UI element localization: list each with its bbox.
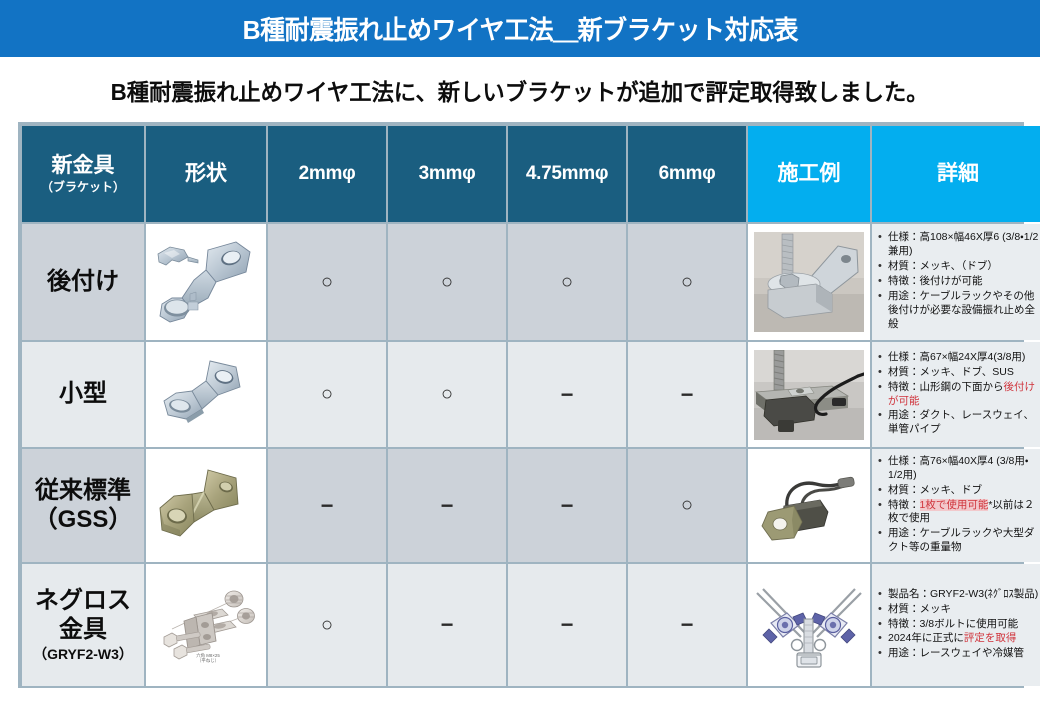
page-title: B種耐震振れ止めワイヤ工法＿新ブラケット対応表 — [242, 10, 797, 47]
row-shape-cell — [146, 224, 266, 340]
header-size-3mm: 3mmφ — [388, 126, 506, 222]
mark-symbol: ○ — [321, 383, 333, 405]
table-row: 小型 — [22, 342, 1040, 447]
row-shape-cell — [146, 342, 266, 447]
mark-symbol: ○ — [561, 271, 573, 293]
row-name-label: 従来標準 — [22, 477, 144, 506]
mark-symbol: − — [681, 382, 694, 407]
row-mark-cell-3mm: − — [388, 564, 506, 686]
install-diagram-v-brace-clamp — [753, 575, 865, 675]
row-mark-cell-3mm: ○ — [388, 342, 506, 447]
mark-symbol: − — [441, 493, 454, 518]
mark-symbol: ○ — [441, 383, 453, 405]
bracket-brass-l-angle-icon — [150, 460, 262, 552]
header-new-bracket-sublabel: （ブラケット） — [22, 180, 144, 194]
table-header-row: 新金具 （ブラケット） 形状 2mmφ 3mmφ 4.75mmφ 6mmφ 施工… — [22, 126, 1040, 222]
header-size-6mm: 6mmφ — [628, 126, 746, 222]
subtitle-area: B種耐震振れ止めワイヤ工法に、新しいブラケットが追加で評定取得致しました。 — [0, 57, 1040, 122]
row-mark-cell-2mm: ○ — [268, 564, 386, 686]
row-name-cell: ネグロス 金具 （GRYF2-W3） — [22, 564, 144, 686]
detail-item: 用途：レースウェイや冷媒管 — [876, 647, 1040, 661]
detail-item: 製品名：GRYF2-W3(ﾈｸﾞﾛｽ製品) — [876, 588, 1040, 602]
row-detail-cell: 製品名：GRYF2-W3(ﾈｸﾞﾛｽ製品) 材質：メッキ 特徴：3/8ボルトに使… — [872, 564, 1040, 686]
detail-prefix: 特徴：山形鋼の下面から — [888, 381, 1004, 393]
svg-text:（平ねじ）: （平ねじ） — [197, 658, 219, 664]
bracket-compatibility-table-wrapper: 新金具 （ブラケット） 形状 2mmφ 3mmφ 4.75mmφ 6mmφ 施工… — [18, 122, 1024, 688]
table-row: 従来標準 （GSS） — [22, 449, 1040, 562]
header-detail: 詳細 — [872, 126, 1040, 222]
install-photo-angle-steel-underside — [754, 350, 864, 440]
detail-list: 製品名：GRYF2-W3(ﾈｸﾞﾛｽ製品) 材質：メッキ 特徴：3/8ボルトに使… — [872, 584, 1040, 666]
row-mark-cell-4-75mm: − — [508, 564, 626, 686]
bracket-compatibility-table: 新金具 （ブラケット） 形状 2mmφ 3mmφ 4.75mmφ 6mmφ 施工… — [20, 124, 1040, 688]
mark-symbol: − — [681, 612, 694, 637]
detail-item: 材質：メッキ、ドブ、SUS — [876, 366, 1040, 380]
row-installation-photo-cell — [748, 342, 870, 447]
bracket-kit-exploded-icon: 六角 M8×25 （平ねじ） — [150, 583, 262, 667]
detail-item: 仕様：高76×幅40X厚4 (3/8用・1/2用) — [876, 455, 1040, 483]
row-detail-cell: 仕様：高67×幅24X厚4(3/8用) 材質：メッキ、ドブ、SUS 特徴：山形鋼… — [872, 342, 1040, 447]
row-mark-cell-6mm: − — [628, 342, 746, 447]
header-installation-example: 施工例 — [748, 126, 870, 222]
header-size-4-75mm: 4.75mmφ — [508, 126, 626, 222]
detail-item: 材質：メッキ — [876, 603, 1040, 617]
detail-item: 特徴：3/8ボルトに使用可能 — [876, 618, 1040, 632]
detail-item: 特徴：山形鋼の下面から後付けが可能 — [876, 381, 1040, 409]
page-banner: B種耐震振れ止めワイヤ工法＿新ブラケット対応表 — [0, 0, 1040, 57]
row-name-label: 小型 — [22, 380, 144, 409]
header-size-2mm-label: 2mmφ — [299, 163, 356, 184]
row-detail-cell: 仕様：高108×幅46X厚6 (3/8・1/2兼用) 材質：メッキ、（ドブ） 特… — [872, 224, 1040, 340]
header-size-2mm: 2mmφ — [268, 126, 386, 222]
row-mark-cell-4-75mm: − — [508, 342, 626, 447]
mark-symbol: ○ — [321, 271, 333, 293]
row-mark-cell-6mm: − — [628, 564, 746, 686]
row-name-cell: 従来標準 （GSS） — [22, 449, 144, 562]
detail-prefix: 2024年に正式に — [888, 632, 964, 644]
row-name-cell: 後付け — [22, 224, 144, 340]
row-mark-cell-6mm: ○ — [628, 224, 746, 340]
row-installation-photo-cell — [748, 224, 870, 340]
detail-item: 用途：ケーブルラックやその他後付けが必要な設備振れ止め全般 — [876, 290, 1040, 332]
detail-item: 2024年に正式に評定を取得 — [876, 632, 1040, 646]
header-shape: 形状 — [146, 126, 266, 222]
row-name-cell: 小型 — [22, 342, 144, 447]
mark-symbol: − — [561, 382, 574, 407]
detail-item: 用途：ケーブルラックや大型ダクト等の重量物 — [876, 527, 1040, 555]
detail-item: 用途：ダクト、レースウェイ、単管パイプ — [876, 409, 1040, 437]
mark-symbol: ○ — [681, 494, 693, 516]
bracket-3d-hook-icon — [150, 236, 262, 328]
header-new-bracket: 新金具 （ブラケット） — [22, 126, 144, 222]
bracket-3d-small-angle-icon — [150, 353, 262, 437]
detail-item: 仕様：高108×幅46X厚6 (3/8・1/2兼用) — [876, 231, 1040, 259]
detail-item: 材質：メッキ、（ドブ） — [876, 260, 1040, 274]
install-photo-gss-wire-loop — [754, 460, 864, 552]
install-photo-threaded-rod-bracket — [754, 232, 864, 332]
row-mark-cell-3mm: − — [388, 449, 506, 562]
subtitle-text: B種耐震振れ止めワイヤ工法に、新しいブラケットが追加で評定取得致しました。 — [111, 73, 929, 107]
row-mark-cell-2mm: ○ — [268, 224, 386, 340]
detail-item: 材質：メッキ、ドブ — [876, 484, 1040, 498]
row-installation-photo-cell — [748, 449, 870, 562]
detail-item: 仕様：高67×幅24X厚4(3/8用) — [876, 351, 1040, 365]
row-mark-cell-2mm: − — [268, 449, 386, 562]
mark-symbol: ○ — [681, 271, 693, 293]
mark-symbol: ○ — [441, 271, 453, 293]
detail-item: 特徴：後付けが可能 — [876, 275, 1040, 289]
mark-symbol: − — [561, 612, 574, 637]
row-name-label: ネグロス 金具 — [22, 587, 144, 645]
detail-highlight: 評定を取得 — [964, 632, 1017, 644]
row-shape-cell: 六角 M8×25 （平ねじ） — [146, 564, 266, 686]
row-mark-cell-4-75mm: − — [508, 449, 626, 562]
detail-highlight: 1枚で使用可能 — [920, 499, 989, 511]
row-mark-cell-6mm: ○ — [628, 449, 746, 562]
detail-list: 仕様：高67×幅24X厚4(3/8用) 材質：メッキ、ドブ、SUS 特徴：山形鋼… — [872, 347, 1040, 442]
header-installation-example-label: 施工例 — [748, 162, 870, 186]
header-new-bracket-label: 新金具 — [22, 154, 144, 178]
row-name-sublabel: （GSS） — [22, 506, 144, 535]
table-row: 後付け — [22, 224, 1040, 340]
row-detail-cell: 仕様：高76×幅40X厚4 (3/8用・1/2用) 材質：メッキ、ドブ 特徴：1… — [872, 449, 1040, 562]
mark-symbol: − — [561, 493, 574, 518]
mark-symbol: − — [441, 612, 454, 637]
header-size-6mm-label: 6mmφ — [659, 163, 716, 184]
detail-list: 仕様：高108×幅46X厚6 (3/8・1/2兼用) 材質：メッキ、（ドブ） 特… — [872, 227, 1040, 336]
header-shape-label: 形状 — [146, 162, 266, 186]
mark-symbol: − — [321, 493, 334, 518]
detail-list: 仕様：高76×幅40X厚4 (3/8用・1/2用) 材質：メッキ、ドブ 特徴：1… — [872, 451, 1040, 560]
row-mark-cell-2mm: ○ — [268, 342, 386, 447]
row-mark-cell-3mm: ○ — [388, 224, 506, 340]
row-shape-cell — [146, 449, 266, 562]
header-size-4-75mm-label: 4.75mmφ — [526, 163, 608, 184]
row-name-label: 後付け — [22, 268, 144, 297]
header-detail-label: 詳細 — [872, 162, 1040, 186]
table-row: ネグロス 金具 （GRYF2-W3） — [22, 564, 1040, 686]
mark-symbol: ○ — [321, 614, 333, 636]
header-size-3mm-label: 3mmφ — [419, 163, 476, 184]
detail-item: 特徴：1枚で使用可能*以前は２枚で使用 — [876, 499, 1040, 527]
row-mark-cell-4-75mm: ○ — [508, 224, 626, 340]
row-installation-photo-cell — [748, 564, 870, 686]
row-name-sublabel: （GRYF2-W3） — [22, 645, 144, 663]
detail-prefix: 特徴： — [888, 499, 920, 511]
